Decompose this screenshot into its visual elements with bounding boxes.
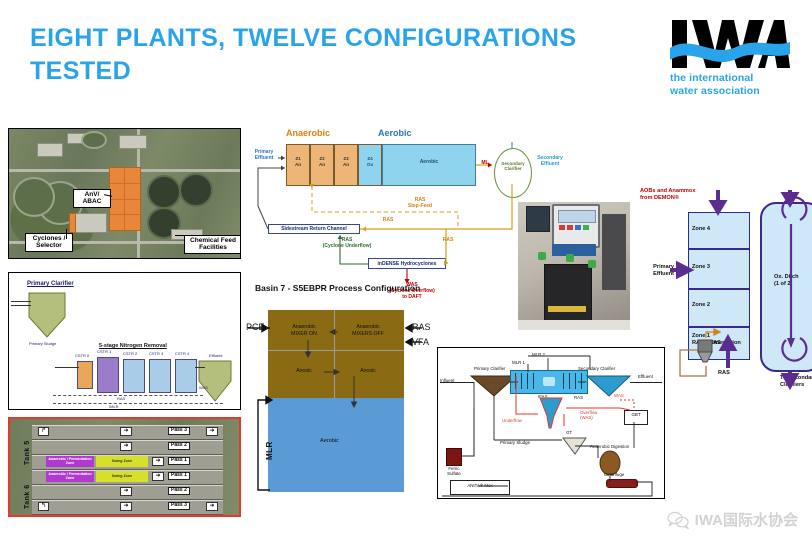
label-vfa-input: VFA bbox=[412, 337, 429, 347]
bnr-process-diagram: Primary Clarifier Primary Sludge 5-stage… bbox=[8, 272, 241, 410]
iwa-tagline-line2: water association bbox=[670, 85, 790, 98]
secondary-clarifier-shape bbox=[197, 359, 233, 403]
full-plant-flow-diagram: Influent Primary Clarifier MLR 1 MLR 2 I… bbox=[437, 347, 665, 499]
flow-arrow: ➜ bbox=[120, 442, 132, 451]
primary-clarifier-shape bbox=[27, 291, 67, 339]
label-mlr: MLR bbox=[265, 410, 274, 460]
cyclone-selector-unit bbox=[69, 213, 76, 233]
label-pce: PCE bbox=[246, 322, 265, 332]
controller-band bbox=[552, 244, 596, 256]
ssebpr-connectors bbox=[250, 128, 535, 303]
ssebpr-process-diagram: Anaerobic Aerobic Primary Effluent Z1An … bbox=[250, 128, 535, 303]
watermark-text: IWA国际水协会 bbox=[695, 509, 798, 530]
label-tank-5: Tank 5 bbox=[24, 431, 31, 465]
label-cstr1: CSTR 1 bbox=[97, 349, 111, 354]
building bbox=[119, 135, 147, 149]
label-ras-input: RAS bbox=[412, 322, 431, 332]
quadrant-anoxic-right: Anoxic bbox=[338, 368, 398, 375]
quad-reactor-diagram: Anaerobic MIXER ON Anaerobic MIXERS OFF … bbox=[268, 310, 404, 492]
anaerobic-fermentation-zone: Anaerobic / Fermentation Zone bbox=[46, 456, 94, 467]
callout-chemical-feed: Chemical Feed Facilities bbox=[184, 235, 241, 254]
dark-tank bbox=[179, 173, 213, 207]
monitor bbox=[526, 206, 550, 232]
swing-zone: Swing Zone bbox=[96, 456, 148, 467]
yellow-strip bbox=[548, 306, 586, 312]
label-effluent: Effluent bbox=[209, 353, 223, 358]
iwa-tagline: the international water association bbox=[670, 72, 790, 98]
iwa-wordmark bbox=[670, 18, 790, 70]
tank-cstr0 bbox=[77, 361, 93, 389]
tank-cstr2 bbox=[123, 359, 145, 393]
aerobic-region bbox=[268, 398, 404, 492]
tank-cstr4 bbox=[175, 359, 197, 393]
label-tank-6: Tank 6 bbox=[24, 475, 31, 509]
satellite-plant-image: AnV/ ABAC Cyclones / Selector Chemical F… bbox=[8, 128, 241, 259]
label-secondary-effluent: Secondary Effluent bbox=[531, 156, 569, 168]
flow-arrow: ➜ bbox=[152, 472, 164, 481]
green-valve bbox=[588, 260, 596, 268]
quadrant-anaerobic-mixer-on: Anaerobic MIXER ON bbox=[276, 324, 332, 338]
quadrant-anoxic-left: Anoxic bbox=[276, 368, 332, 375]
label-ras: RAS bbox=[117, 396, 125, 401]
flow-arrow: ➜ bbox=[152, 457, 164, 466]
iwa-letters-svg bbox=[670, 18, 790, 70]
callout-anv-abac: AnV/ ABAC bbox=[73, 189, 111, 208]
pass-label: Pass 2 bbox=[168, 487, 190, 495]
aerial-basins-image: Anaerobic / Fermentation Zone Swing Zone… bbox=[8, 417, 241, 517]
label-cstr4: CSTR 4 bbox=[175, 351, 189, 356]
flow-arrow: ➜ bbox=[206, 502, 218, 511]
label-primary-clarifier: Primary Clarifier bbox=[27, 281, 74, 287]
rack bbox=[602, 214, 626, 290]
reactor-vessel bbox=[544, 264, 592, 322]
flow-arrow: ➜ bbox=[206, 427, 218, 436]
flow-arrow: ➜ bbox=[120, 502, 132, 511]
controller-unit bbox=[552, 204, 600, 248]
flow-arrow: ➜ bbox=[120, 427, 132, 436]
anv-abac-basin bbox=[109, 167, 141, 231]
swing-zone: Swing Zone bbox=[96, 471, 148, 482]
tank-cstr1 bbox=[97, 357, 119, 393]
iwa-tagline-line1: the international bbox=[670, 72, 790, 85]
label-aerobic: Aerobic bbox=[320, 438, 339, 444]
label-was: WAS bbox=[199, 385, 208, 390]
circular-clarifier bbox=[13, 177, 55, 217]
lab-reactor-photo bbox=[518, 202, 630, 330]
label-cstr3: CSTR 3 bbox=[149, 351, 163, 356]
wechat-bubble-icon bbox=[667, 511, 689, 529]
green-valve bbox=[566, 254, 574, 262]
selector-building bbox=[73, 213, 107, 233]
dark-tank bbox=[147, 175, 181, 209]
pass-label: Pass 2 bbox=[168, 442, 190, 450]
circular-tank bbox=[81, 131, 107, 149]
quadrant-anaerobic-mixers-off: Anaerobic MIXERS OFF bbox=[338, 324, 398, 338]
anaerobic-fermentation-zone: Anaerobic / Fermentation Zone bbox=[46, 471, 94, 482]
pass-label: Pass 3 bbox=[168, 427, 190, 435]
pass-label: Pass 3 bbox=[168, 502, 190, 510]
tank-cstr3 bbox=[149, 359, 171, 393]
pass-label: Pass 1 bbox=[168, 472, 190, 480]
label-cstr2: CSTR 2 bbox=[123, 351, 137, 356]
label-primary-sludge: Primary Sludge bbox=[29, 341, 56, 346]
building bbox=[37, 143, 63, 157]
plantflow-connectors bbox=[438, 348, 666, 500]
bench-surface bbox=[518, 320, 630, 330]
flow-arrow: ↱ bbox=[38, 427, 49, 436]
flow-arrow: ➜ bbox=[120, 487, 132, 496]
label-cstr0: CSTR 0 bbox=[75, 353, 89, 358]
watermark: IWA国际水协会 bbox=[667, 509, 798, 530]
green-valve bbox=[538, 252, 546, 260]
page-title: EIGHT PLANTS, TWELVE CONFIGURATIONS TEST… bbox=[30, 22, 590, 88]
pass-label: Pass 1 bbox=[168, 457, 190, 465]
ssebpr-caption: Basin 7 - S5EBPR Process Configuration bbox=[255, 283, 420, 293]
label-imlr: IMLR bbox=[109, 404, 119, 409]
iwa-logo: the international water association bbox=[670, 18, 790, 104]
flow-arrow: ↰ bbox=[38, 502, 49, 511]
